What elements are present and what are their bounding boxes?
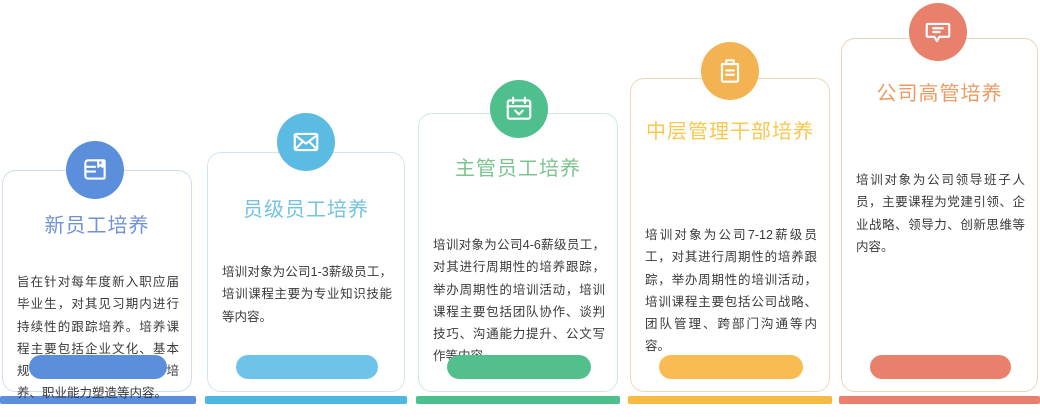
card-pill-button-middle-management[interactable]: [659, 355, 803, 379]
card-middle-management[interactable]: 中层管理干部培养培训对象为公司7-12薪级员工，对其进行周期性的培养跟踪，举办周…: [630, 78, 830, 392]
card-pill-button-new-employee[interactable]: [29, 355, 167, 379]
card-new-employee[interactable]: 新员工培养旨在针对每年度新入职应届毕业生，对其见习期内进行持续性的跟踪培养。培养…: [2, 170, 192, 392]
card-title-senior-executive: 公司高管培养: [842, 77, 1037, 106]
card-title-new-employee: 新员工培养: [3, 209, 191, 238]
calendar-icon: [490, 80, 548, 138]
card-body-text-staff-level-employee: 培训对象为公司1-3薪级员工，培训课程主要为专业知识技能等内容。: [222, 261, 392, 328]
card-base-bar-staff-level-employee: [205, 396, 407, 404]
card-base-bar-middle-management: [628, 396, 832, 404]
card-title-middle-management: 中层管理干部培养: [631, 115, 829, 144]
document-icon: [701, 42, 759, 100]
card-title-staff-level-employee: 员级员工培养: [208, 193, 404, 222]
card-title-supervisor-employee: 主管员工培养: [419, 152, 617, 181]
card-pill-button-senior-executive[interactable]: [870, 355, 1011, 379]
book-icon: [66, 141, 124, 199]
card-base-bar-senior-executive: [839, 396, 1040, 404]
card-senior-executive[interactable]: 公司高管培养培训对象为公司领导班子人员，主要课程为党建引领、企业战略、领导力、创…: [841, 38, 1038, 392]
card-pill-button-supervisor-employee[interactable]: [447, 355, 591, 379]
card-pill-button-staff-level-employee[interactable]: [236, 355, 378, 379]
card-staff-level-employee[interactable]: 员级员工培养培训对象为公司1-3薪级员工，培训课程主要为专业知识技能等内容。: [207, 152, 405, 392]
infographic-canvas: 新员工培养旨在针对每年度新入职应届毕业生，对其见习期内进行持续性的跟踪培养。培养…: [0, 0, 1040, 417]
card-supervisor-employee[interactable]: 主管员工培养培训对象为公司4-6薪级员工，对其进行周期性的培养跟踪，举办周期性的…: [418, 113, 618, 392]
card-base-bar-supervisor-employee: [416, 396, 620, 404]
card-body-text-middle-management: 培训对象为公司7-12薪级员工，对其进行周期性的培养跟踪，举办周期性的培训活动，…: [645, 224, 817, 358]
card-body-text-new-employee: 旨在针对每年度新入职应届毕业生，对其见习期内进行持续性的跟踪培养。培养课程主要包…: [17, 271, 179, 405]
card-body-text-senior-executive: 培训对象为公司领导班子人员，主要课程为党建引领、企业战略、领导力、创新思维等内容…: [856, 169, 1025, 258]
chat-bubble-icon: [909, 3, 967, 61]
card-body-text-supervisor-employee: 培训对象为公司4-6薪级员工，对其进行周期性的培养跟踪，举办周期性的培训活动，培…: [433, 234, 605, 368]
envelope-icon: [277, 113, 335, 171]
